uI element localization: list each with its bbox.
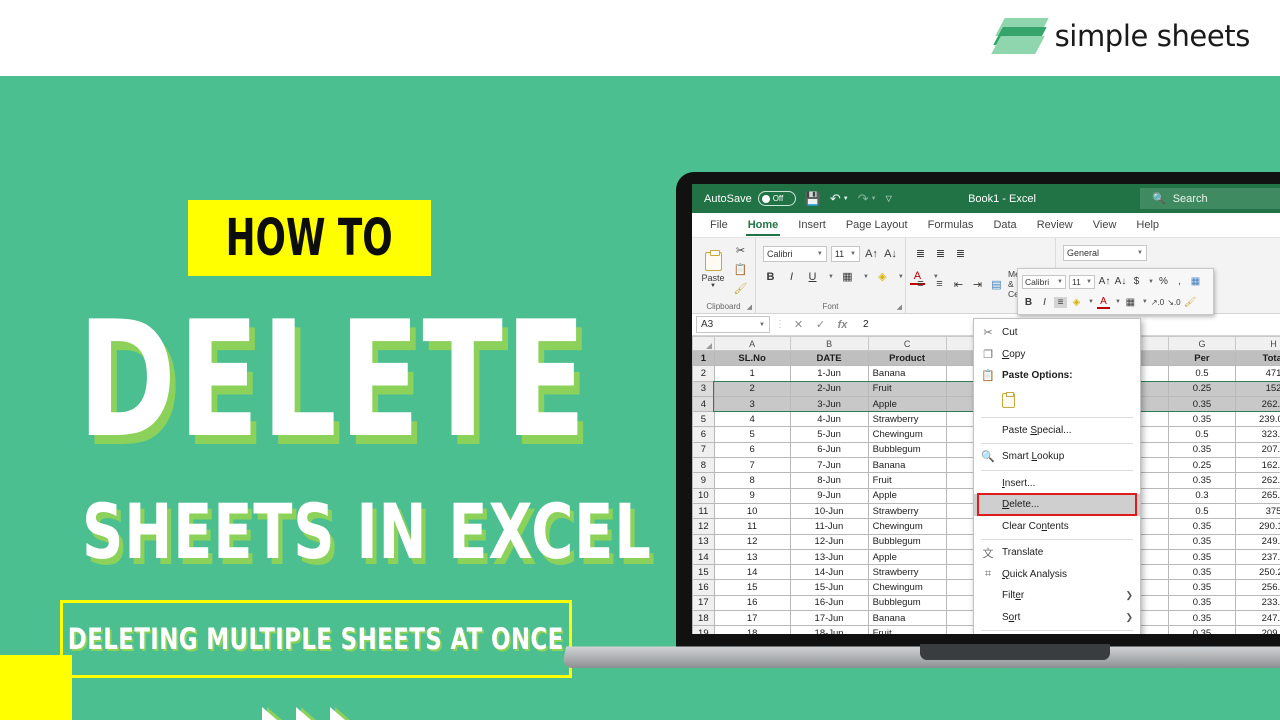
merge-center-icon[interactable]: ▤ bbox=[989, 276, 1004, 293]
underline-dropdown-icon[interactable]: ▼ bbox=[828, 274, 834, 280]
grid-cell[interactable]: 375 bbox=[1236, 503, 1280, 518]
grid-cell[interactable]: 14-Jun bbox=[790, 565, 868, 580]
grid-cell[interactable]: 0.35 bbox=[1168, 595, 1235, 610]
brand-name: simple sheets bbox=[1055, 19, 1250, 53]
menu-separator bbox=[981, 417, 1133, 418]
poster-stage: HOW TO DELETE SHEETS IN EXCEL DELETING M… bbox=[0, 76, 1280, 720]
menu-item-label: Sort bbox=[1002, 612, 1118, 623]
grid-cell[interactable]: 6-Jun bbox=[790, 442, 868, 457]
ribbon-tab-home[interactable]: Home bbox=[738, 216, 789, 234]
number-format-value: General bbox=[1067, 248, 1099, 258]
menu-item-paste-special[interactable]: Paste Special... bbox=[974, 420, 1140, 442]
row-header[interactable]: 1 bbox=[693, 351, 715, 366]
menu-item-label: Paste Options: bbox=[1002, 370, 1133, 381]
menu-item-cut[interactable]: ✂Cut bbox=[974, 322, 1140, 344]
grid-cell[interactable]: Strawberry bbox=[868, 412, 946, 427]
grid-cell[interactable]: 3-Jun bbox=[790, 396, 868, 411]
grid-cell[interactable]: 152 bbox=[1236, 381, 1280, 396]
grid-cell[interactable]: Fruit bbox=[868, 626, 946, 634]
page-header: simple sheets bbox=[0, 0, 1280, 76]
grid-cell[interactable]: Strawberry bbox=[868, 565, 946, 580]
font-size-value: 11 bbox=[835, 249, 844, 259]
menu-item-quick-analysis[interactable]: ⌗Quick Analysis bbox=[974, 564, 1140, 586]
grid-cell[interactable]: 16 bbox=[714, 595, 790, 610]
font-color-dropdown-icon[interactable]: ▼ bbox=[1115, 299, 1121, 305]
underline-button[interactable]: U bbox=[805, 268, 820, 285]
menu-item-label: Smart Lookup bbox=[1002, 451, 1133, 462]
ribbon-group-clipboard: Paste ▼ ✂ 📋 🖌 Clipboard ◢ bbox=[692, 238, 756, 313]
scissors-icon[interactable]: ✂ bbox=[733, 242, 748, 259]
ribbon-tab-formulas[interactable]: Formulas bbox=[918, 216, 984, 234]
column-header-G[interactable]: G bbox=[1168, 337, 1235, 351]
menu-item-translate[interactable]: 文Translate bbox=[974, 542, 1140, 564]
mini-font-name-value: Calibri bbox=[1025, 277, 1049, 287]
row-header[interactable]: 12 bbox=[693, 519, 715, 534]
clipboard-group-label: Clipboard bbox=[692, 302, 755, 311]
yellow-corner-accent bbox=[0, 655, 72, 720]
column-header-H[interactable]: H bbox=[1236, 337, 1280, 351]
grid-cell[interactable]: 17 bbox=[714, 611, 790, 626]
chevron-down-icon[interactable]: ▼ bbox=[710, 283, 716, 289]
grid-cell[interactable]: 0.3 bbox=[1168, 488, 1235, 503]
grid-cell[interactable]: 0.5 bbox=[1168, 427, 1235, 442]
ribbon-tab-view[interactable]: View bbox=[1083, 216, 1127, 234]
font-size-select[interactable]: 11 ▼ bbox=[831, 246, 860, 262]
borders-dropdown-icon[interactable]: ▼ bbox=[863, 274, 869, 280]
font-name-select[interactable]: Calibri ▼ bbox=[763, 246, 827, 262]
clipboard-icon: 📋 bbox=[981, 369, 995, 382]
column-title-cell[interactable]: DATE bbox=[790, 351, 868, 366]
grid-cell[interactable]: 9 bbox=[714, 488, 790, 503]
grid-cell[interactable]: Fruit bbox=[868, 473, 946, 488]
headline-secondary: SHEETS IN EXCEL bbox=[82, 494, 652, 570]
triple-chevron-right-icon bbox=[262, 707, 360, 720]
shrink-font-icon[interactable]: A↓ bbox=[883, 245, 898, 262]
menu-item-filter[interactable]: Filter❯ bbox=[974, 585, 1140, 607]
grid-cell[interactable]: Chewingum bbox=[868, 519, 946, 534]
grid-cell[interactable]: 0.35 bbox=[1168, 396, 1235, 411]
grid-cell[interactable]: Strawberry bbox=[868, 503, 946, 518]
grid-cell[interactable]: 4 bbox=[714, 412, 790, 427]
menu-separator bbox=[981, 539, 1133, 540]
row-header[interactable]: 17 bbox=[693, 595, 715, 610]
grid-cell[interactable]: 16-Jun bbox=[790, 595, 868, 610]
grid-cell[interactable]: 6 bbox=[714, 442, 790, 457]
grid-cell[interactable]: 290.15 bbox=[1236, 519, 1280, 534]
ribbon-group-font: Calibri ▼ 11 ▼ A↑ A↓ B I U bbox=[756, 238, 906, 313]
ribbon-tab-bar: FileHomeInsertPage LayoutFormulasDataRev… bbox=[692, 213, 1280, 238]
grid-cell[interactable]: 262.5 bbox=[1236, 473, 1280, 488]
grid-cell[interactable]: 13-Jun bbox=[790, 549, 868, 564]
row-header[interactable]: 7 bbox=[693, 442, 715, 457]
align-center-icon[interactable]: ≡ bbox=[932, 276, 947, 293]
grid-cell[interactable]: 0.35 bbox=[1168, 549, 1235, 564]
translate-icon: 文 bbox=[981, 545, 995, 561]
row-header[interactable]: 16 bbox=[693, 580, 715, 595]
mini-font-size-select[interactable]: 11▼ bbox=[1069, 275, 1095, 289]
grow-font-icon[interactable]: A↑ bbox=[864, 245, 879, 262]
ribbon-tab-review[interactable]: Review bbox=[1027, 216, 1083, 234]
grid-cell[interactable]: 12-Jun bbox=[790, 534, 868, 549]
grid-cell[interactable]: 0.5 bbox=[1168, 503, 1235, 518]
how-to-badge: HOW TO bbox=[188, 200, 431, 276]
grid-cell[interactable]: Apple bbox=[868, 396, 946, 411]
menu-item-get-data-from-table-range[interactable]: ▦Get Data from Table/Range... bbox=[974, 633, 1140, 634]
grid-cell[interactable]: 209.3 bbox=[1236, 626, 1280, 634]
font-name-value: Calibri bbox=[767, 249, 793, 259]
name-box[interactable]: A3 ▼ bbox=[696, 316, 770, 333]
menu-item-label: Cut bbox=[1002, 327, 1133, 338]
indent-decrease-icon[interactable]: ⇤ bbox=[951, 276, 966, 293]
format-as-table-icon[interactable]: ▦ bbox=[1189, 276, 1202, 287]
grid-cell[interactable]: 0.35 bbox=[1168, 534, 1235, 549]
copy-pages-icon: ❐ bbox=[981, 348, 995, 361]
grid-cell[interactable]: 2-Jun bbox=[790, 381, 868, 396]
grid-cell[interactable]: 0.25 bbox=[1168, 381, 1235, 396]
subtitle-label: DELETING MULTIPLE SHEETS AT ONCE bbox=[68, 622, 564, 656]
grid-cell[interactable]: Apple bbox=[868, 549, 946, 564]
grid-cell[interactable]: 15 bbox=[714, 580, 790, 595]
grid-cell[interactable]: 0.35 bbox=[1168, 580, 1235, 595]
currency-icon[interactable]: $ bbox=[1130, 276, 1143, 287]
chevron-right-icon: ❯ bbox=[1125, 612, 1133, 623]
menu-item-copy[interactable]: ❐Copy bbox=[974, 344, 1140, 366]
poster-text-column: HOW TO DELETE SHEETS IN EXCEL DELETING M… bbox=[0, 76, 640, 720]
row-header[interactable]: 15 bbox=[693, 565, 715, 580]
menu-item-smart-lookup[interactable]: 🔍Smart Lookup bbox=[974, 446, 1140, 468]
row-header[interactable]: 13 bbox=[693, 534, 715, 549]
fill-color-icon[interactable]: ◈ bbox=[1070, 297, 1083, 308]
comma-style-icon[interactable]: , bbox=[1173, 276, 1186, 287]
column-header-A[interactable]: A bbox=[714, 337, 790, 351]
row-header[interactable]: 5 bbox=[693, 412, 715, 427]
fill-color-icon[interactable]: ◈ bbox=[875, 268, 890, 285]
menu-item-label: Quick Analysis bbox=[1002, 569, 1133, 580]
menu-separator bbox=[981, 443, 1133, 444]
grow-font-icon[interactable]: A↑ bbox=[1098, 276, 1111, 287]
how-to-label: HOW TO bbox=[226, 209, 393, 268]
ribbon-tab-insert[interactable]: Insert bbox=[788, 216, 836, 234]
grid-cell[interactable]: 12 bbox=[714, 534, 790, 549]
row-header[interactable]: 19 bbox=[693, 626, 715, 634]
menu-item-clear-contents[interactable]: Clear Contents bbox=[974, 516, 1140, 538]
grid-cell[interactable]: Fruit bbox=[868, 381, 946, 396]
format-painter-brush-icon[interactable]: 🖌 bbox=[1184, 297, 1197, 308]
laptop-trackpad-notch bbox=[920, 644, 1110, 660]
borders-dropdown-icon[interactable]: ▼ bbox=[1142, 299, 1148, 305]
ribbon-tab-file[interactable]: File bbox=[700, 216, 738, 234]
dialog-launcher-icon[interactable]: ◢ bbox=[747, 303, 752, 311]
grid-cell[interactable]: Bubblegum bbox=[868, 595, 946, 610]
percent-icon[interactable]: % bbox=[1157, 276, 1170, 287]
grid-cell[interactable]: 18-Jun bbox=[790, 626, 868, 634]
formula-bar-divider: ⋮ bbox=[775, 319, 785, 330]
subtitle-box: DELETING MULTIPLE SHEETS AT ONCE bbox=[60, 600, 572, 678]
paste-clipboard-icon[interactable] bbox=[1002, 393, 1015, 408]
grid-cell[interactable]: 17-Jun bbox=[790, 611, 868, 626]
grid-cell[interactable]: 0.35 bbox=[1168, 565, 1235, 580]
row-header[interactable]: 3 bbox=[693, 381, 715, 396]
grid-cell[interactable]: 11-Jun bbox=[790, 519, 868, 534]
borders-grid-icon[interactable]: ▦ bbox=[840, 268, 855, 285]
grid-cell[interactable]: 1-Jun bbox=[790, 366, 868, 381]
grid-cell[interactable]: Banana bbox=[868, 458, 946, 473]
grid-cell[interactable]: 7 bbox=[714, 458, 790, 473]
scissors-icon: ✂ bbox=[981, 326, 995, 339]
mini-floating-toolbar[interactable]: Calibri▼ 11▼ A↑ A↓ $ ▼ % , ▦ B I ≡ bbox=[1017, 268, 1214, 315]
menu-item-label: Filter bbox=[1002, 590, 1118, 601]
row-header[interactable]: 6 bbox=[693, 427, 715, 442]
column-title-cell[interactable]: Total bbox=[1236, 351, 1280, 366]
grid-cell[interactable]: 11 bbox=[714, 519, 790, 534]
column-title-cell[interactable]: SL.No bbox=[714, 351, 790, 366]
chevron-right-icon: ❯ bbox=[1125, 590, 1133, 601]
grid-cell[interactable]: 14 bbox=[714, 565, 790, 580]
quick-analysis-icon: ⌗ bbox=[981, 568, 995, 581]
stacked-sheets-icon bbox=[996, 16, 1042, 56]
grid-cell[interactable]: 237.3 bbox=[1236, 549, 1280, 564]
row-header[interactable]: 10 bbox=[693, 488, 715, 503]
align-top-icon[interactable]: ≣ bbox=[913, 245, 928, 262]
grid-cell[interactable]: 233.1 bbox=[1236, 595, 1280, 610]
smart-lookup-icon: 🔍 bbox=[981, 450, 995, 463]
align-center-icon[interactable]: ≡ bbox=[1054, 297, 1067, 308]
grid-cell[interactable]: 265.5 bbox=[1236, 488, 1280, 503]
number-format-select[interactable]: General ▼ bbox=[1063, 245, 1147, 261]
grid-cell[interactable]: 239.05 bbox=[1236, 412, 1280, 427]
grid-cell[interactable]: 18 bbox=[714, 626, 790, 634]
column-title-cell[interactable]: Per bbox=[1168, 351, 1235, 366]
italic-button[interactable]: I bbox=[1038, 297, 1051, 308]
fill-color-dropdown-icon[interactable]: ▼ bbox=[898, 274, 904, 280]
menu-item-label: Copy bbox=[1002, 349, 1133, 360]
grid-cell[interactable]: 10 bbox=[714, 503, 790, 518]
ribbon-tab-data[interactable]: Data bbox=[983, 216, 1026, 234]
row-header[interactable]: 9 bbox=[693, 473, 715, 488]
grid-cell[interactable]: 7-Jun bbox=[790, 458, 868, 473]
dialog-launcher-icon[interactable]: ◢ bbox=[897, 303, 902, 311]
select-all-corner[interactable] bbox=[693, 337, 715, 351]
cancel-x-icon[interactable]: ✕ bbox=[790, 318, 807, 331]
grid-cell[interactable]: 250.25 bbox=[1236, 565, 1280, 580]
search-magnifier-icon: 🔍 bbox=[1152, 192, 1166, 205]
grid-cell[interactable]: 5 bbox=[714, 427, 790, 442]
enter-check-icon[interactable]: ✓ bbox=[812, 318, 829, 331]
paste-options-gallery[interactable] bbox=[974, 387, 1140, 415]
align-left-icon[interactable]: ≡ bbox=[913, 276, 928, 293]
grid-cell[interactable]: 323.5 bbox=[1236, 427, 1280, 442]
menu-item-label: Translate bbox=[1002, 547, 1133, 558]
ribbon-tab-page-layout[interactable]: Page Layout bbox=[836, 216, 918, 234]
grid-cell[interactable]: Banana bbox=[868, 611, 946, 626]
row-header[interactable]: 11 bbox=[693, 503, 715, 518]
clipboard-icon bbox=[705, 252, 722, 271]
currency-dropdown-icon[interactable]: ▼ bbox=[1148, 279, 1154, 285]
align-middle-icon[interactable]: ≣ bbox=[933, 245, 948, 262]
grid-cell[interactable]: 9-Jun bbox=[790, 488, 868, 503]
excel-application-window: AutoSave Off 💾 ↶ ▼ ↷ ▼ ▽ Book1 - Excel 🔍… bbox=[692, 184, 1280, 634]
bold-button[interactable]: B bbox=[1022, 297, 1035, 308]
mini-toolbar-row-1: Calibri▼ 11▼ A↑ A↓ $ ▼ % , ▦ bbox=[1022, 275, 1209, 289]
grid-cell[interactable]: Bubblegum bbox=[868, 534, 946, 549]
menu-item-label: Insert... bbox=[1002, 478, 1133, 489]
italic-button[interactable]: I bbox=[784, 268, 799, 285]
column-title-cell[interactable]: Product bbox=[868, 351, 946, 366]
grid-cell[interactable]: 0.35 bbox=[1168, 519, 1235, 534]
fill-color-dropdown-icon[interactable]: ▼ bbox=[1088, 299, 1094, 305]
mini-toolbar-row-2: B I ≡ ◈ ▼ A ▼ ▦ ▼ ↗.0 ↘.0 🖌 bbox=[1022, 296, 1209, 309]
search-box[interactable]: 🔍 Search bbox=[1140, 188, 1280, 209]
menu-item-insert[interactable]: Insert... bbox=[974, 473, 1140, 495]
grid-cell[interactable]: 0.35 bbox=[1168, 412, 1235, 427]
menu-item-paste-options[interactable]: 📋Paste Options: bbox=[974, 365, 1140, 387]
menu-item-label: Clear Contents bbox=[1002, 521, 1133, 532]
paste-label: Paste bbox=[701, 273, 724, 283]
grid-cell[interactable]: 10-Jun bbox=[790, 503, 868, 518]
copy-pages-icon[interactable]: 📋 bbox=[733, 261, 748, 278]
grid-cell[interactable]: 0.5 bbox=[1168, 366, 1235, 381]
font-group-label: Font bbox=[756, 302, 905, 311]
grid-cell[interactable]: 1 bbox=[714, 366, 790, 381]
insert-function-fx-icon[interactable]: fx bbox=[834, 319, 851, 331]
grid-cell[interactable]: Apple bbox=[868, 488, 946, 503]
grid-cell[interactable]: 5-Jun bbox=[790, 427, 868, 442]
menu-item-label: Paste Special... bbox=[1002, 425, 1133, 436]
menu-item-delete[interactable]: Delete... bbox=[974, 494, 1140, 516]
menu-separator bbox=[981, 630, 1133, 631]
format-painter-brush-icon[interactable]: 🖌 bbox=[733, 280, 748, 297]
cell-context-menu[interactable]: ✂Cut❐Copy📋Paste Options:Paste Special...… bbox=[973, 318, 1141, 634]
grid-cell[interactable]: Chewingum bbox=[868, 427, 946, 442]
grid-cell[interactable]: 0.35 bbox=[1168, 626, 1235, 634]
grid-cell[interactable]: 0.25 bbox=[1168, 458, 1235, 473]
mini-font-name-select[interactable]: Calibri▼ bbox=[1022, 275, 1066, 289]
menu-item-label: Delete... bbox=[1002, 499, 1133, 510]
decrease-decimal-icon[interactable]: ↘.0 bbox=[1167, 298, 1180, 307]
excel-title-bar: AutoSave Off 💾 ↶ ▼ ↷ ▼ ▽ Book1 - Excel 🔍… bbox=[692, 184, 1280, 213]
row-header[interactable]: 8 bbox=[693, 458, 715, 473]
row-header[interactable]: 2 bbox=[693, 366, 715, 381]
grid-cell[interactable]: Chewingum bbox=[868, 580, 946, 595]
grid-cell[interactable]: 15-Jun bbox=[790, 580, 868, 595]
search-placeholder: Search bbox=[1173, 193, 1208, 205]
grid-cell[interactable]: 0.35 bbox=[1168, 442, 1235, 457]
mini-font-size-value: 11 bbox=[1072, 277, 1081, 287]
grid-cell[interactable]: 0.35 bbox=[1168, 611, 1235, 626]
grid-cell[interactable]: 13 bbox=[714, 549, 790, 564]
row-header[interactable]: 18 bbox=[693, 611, 715, 626]
align-bottom-icon[interactable]: ≣ bbox=[953, 245, 968, 262]
grid-cell[interactable]: 4-Jun bbox=[790, 412, 868, 427]
grid-cell[interactable]: Bubblegum bbox=[868, 442, 946, 457]
headline-primary: DELETE bbox=[78, 300, 588, 460]
grid-cell[interactable]: 207.9 bbox=[1236, 442, 1280, 457]
ribbon-tab-help[interactable]: Help bbox=[1126, 216, 1169, 234]
grid-cell[interactable]: 0.35 bbox=[1168, 473, 1235, 488]
menu-item-sort[interactable]: Sort❯ bbox=[974, 607, 1140, 629]
grid-cell[interactable]: 262.5 bbox=[1236, 396, 1280, 411]
row-header[interactable]: 4 bbox=[693, 396, 715, 411]
font-color-icon[interactable]: A bbox=[1097, 296, 1110, 309]
row-header[interactable]: 14 bbox=[693, 549, 715, 564]
paste-button[interactable]: Paste ▼ bbox=[699, 252, 727, 289]
grid-cell[interactable]: 162.5 bbox=[1236, 458, 1280, 473]
laptop-mockup: AutoSave Off 💾 ↶ ▼ ↷ ▼ ▽ Book1 - Excel 🔍… bbox=[650, 88, 1280, 708]
name-box-value: A3 bbox=[701, 319, 713, 330]
grid-cell[interactable]: 8 bbox=[714, 473, 790, 488]
grid-cell[interactable]: Banana bbox=[868, 366, 946, 381]
grid-cell[interactable]: 249.2 bbox=[1236, 534, 1280, 549]
grid-cell[interactable]: 8-Jun bbox=[790, 473, 868, 488]
column-header-B[interactable]: B bbox=[790, 337, 868, 351]
borders-grid-icon[interactable]: ▦ bbox=[1124, 297, 1137, 308]
brand-logo[interactable]: simple sheets bbox=[996, 16, 1250, 56]
grid-cell[interactable]: 471 bbox=[1236, 366, 1280, 381]
grid-cell[interactable]: 3 bbox=[714, 396, 790, 411]
grid-cell[interactable]: 247.1 bbox=[1236, 611, 1280, 626]
grid-cell[interactable]: 2 bbox=[714, 381, 790, 396]
increase-decimal-icon[interactable]: ↗.0 bbox=[1151, 298, 1164, 307]
indent-increase-icon[interactable]: ⇥ bbox=[970, 276, 985, 293]
menu-separator bbox=[981, 470, 1133, 471]
column-header-C[interactable]: C bbox=[868, 337, 946, 351]
grid-cell[interactable]: 256.2 bbox=[1236, 580, 1280, 595]
bold-button[interactable]: B bbox=[763, 268, 778, 285]
shrink-font-icon[interactable]: A↓ bbox=[1114, 276, 1127, 287]
